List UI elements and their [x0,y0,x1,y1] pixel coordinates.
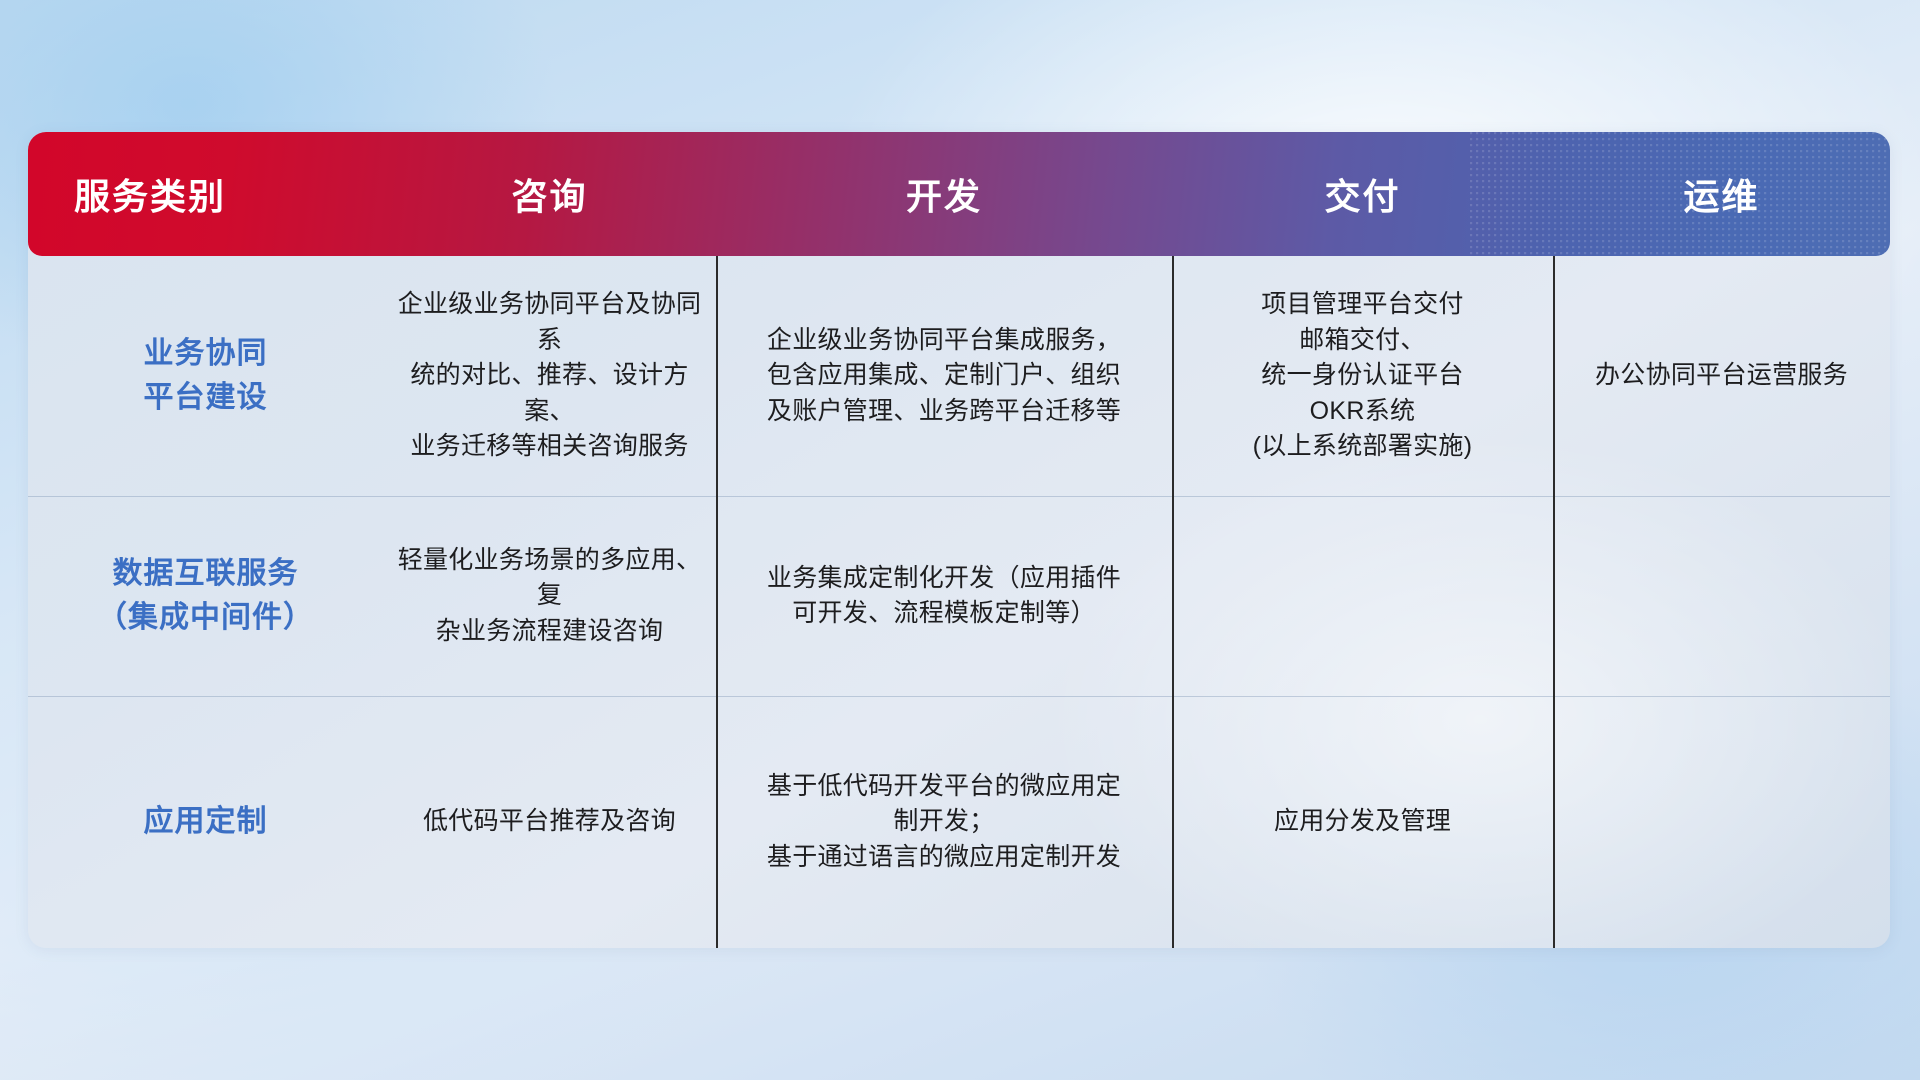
cell-development-row1: 企业级业务协同平台集成服务， 包含应用集成、定制门户、组织 及账户管理、业务跨平… [716,256,1172,496]
column-header-category: 服务类别 [28,132,383,256]
cell-development-row2-text: 业务集成定制化开发（应用插件 可开发、流程模板定制等） [767,561,1121,632]
cell-delivery-row3: 应用分发及管理 [1172,696,1553,948]
cell-category-row2: 数据互联服务 （集成中间件） [97,552,314,640]
cell-operations-row2 [1553,496,1890,696]
column-header-operations-label: 运维 [1683,168,1759,220]
column-header-development-label: 开发 [906,168,982,220]
cell-development-row3: 基于低代码开发平台的微应用定 制开发； 基于通过语言的微应用定制开发 [716,696,1172,948]
table-row: 数据互联服务 （集成中间件） [28,496,383,696]
column-header-operations: 运维 [1553,132,1890,256]
table-header-row: 服务类别 咨询 开发 交付 运维 [28,132,1890,256]
cell-delivery-row1-text: 项目管理平台交付 邮箱交付、 统一身份认证平台 OKR系统 (以上系统部署实施) [1253,287,1473,465]
column-header-development: 开发 [716,132,1172,256]
row-divider-2 [28,696,1890,697]
cell-consulting-row3: 低代码平台推荐及咨询 [383,696,716,948]
cell-operations-row3 [1553,696,1890,948]
column-divider-1 [716,256,718,948]
cell-delivery-row1: 项目管理平台交付 邮箱交付、 统一身份认证平台 OKR系统 (以上系统部署实施) [1172,256,1553,496]
table-row: 业务协同 平台建设 [28,256,383,496]
cell-category-row3: 应用定制 [144,800,268,844]
column-divider-2 [1172,256,1174,948]
column-header-consulting: 咨询 [383,132,716,256]
cell-category-row1: 业务协同 平台建设 [144,332,268,420]
cell-operations-row1-text: 办公协同平台运营服务 [1595,358,1848,394]
column-header-delivery-label: 交付 [1324,168,1400,220]
cell-development-row3-text: 基于低代码开发平台的微应用定 制开发； 基于通过语言的微应用定制开发 [767,769,1121,876]
column-header-consulting-label: 咨询 [511,168,587,220]
cell-delivery-row3-text: 应用分发及管理 [1274,804,1451,840]
table-body: 业务协同 平台建设 企业级业务协同平台及协同系 统的对比、推荐、设计方案、 业务… [28,256,1890,948]
column-divider-3 [1553,256,1555,948]
column-header-category-label: 服务类别 [74,168,226,220]
cell-development-row1-text: 企业级业务协同平台集成服务， 包含应用集成、定制门户、组织 及账户管理、业务跨平… [767,323,1121,430]
service-matrix-table: 服务类别 咨询 开发 交付 运维 业务协同 平台建设 企业级业务协同平台及协同系… [28,132,1890,948]
cell-consulting-row1-text: 企业级业务协同平台及协同系 统的对比、推荐、设计方案、 业务迁移等相关咨询服务 [397,287,702,465]
table-row: 应用定制 [28,696,383,948]
column-header-delivery: 交付 [1172,132,1553,256]
cell-consulting-row3-text: 低代码平台推荐及咨询 [423,804,676,840]
cell-consulting-row1: 企业级业务协同平台及协同系 统的对比、推荐、设计方案、 业务迁移等相关咨询服务 [383,256,716,496]
cell-operations-row1: 办公协同平台运营服务 [1553,256,1890,496]
cell-consulting-row2-text: 轻量化业务场景的多应用、复 杂业务流程建设咨询 [397,543,702,650]
cell-development-row2: 业务集成定制化开发（应用插件 可开发、流程模板定制等） [716,496,1172,696]
cell-consulting-row2: 轻量化业务场景的多应用、复 杂业务流程建设咨询 [383,496,716,696]
row-divider-1 [28,496,1890,497]
cell-delivery-row2 [1172,496,1553,696]
